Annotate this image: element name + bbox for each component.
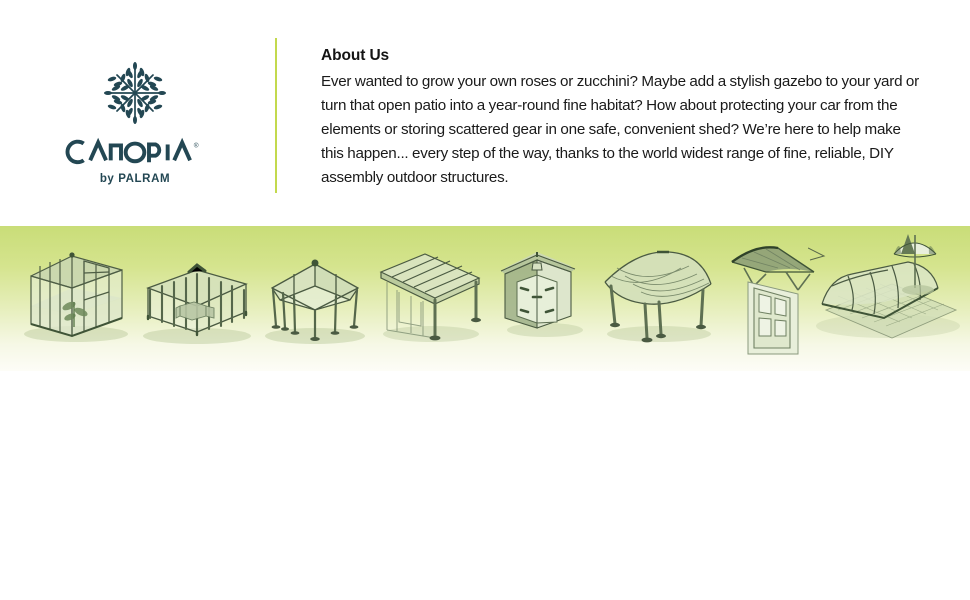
brand-wordmark-row: ® [55, 136, 215, 166]
about-us-section: About Us Ever wanted to grow your own ro… [321, 47, 926, 190]
pool-enclosure-icon [808, 226, 970, 371]
brand-logo[interactable]: ® by PALRAM [55, 58, 215, 185]
about-us-title: About Us [321, 47, 926, 65]
brand-tagline: by PALRAM [55, 173, 215, 185]
square-gazebo-icon [136, 226, 258, 371]
about-us-body: Ever wanted to grow your own roses or zu… [321, 70, 926, 190]
banner-header: ® by PALRAM About Us Ever wanted to grow… [0, 0, 970, 226]
patio-cover-icon [373, 226, 488, 371]
canopia-tree-pattern-logo [97, 58, 173, 128]
product-storage-shed[interactable] [497, 226, 589, 371]
footer-whitespace [0, 371, 970, 600]
registered-trademark-symbol: ® [194, 141, 199, 149]
product-row [0, 226, 970, 371]
hexagonal-gazebo-icon [258, 226, 373, 371]
door-awning-icon [726, 226, 820, 371]
product-greenhouse[interactable] [14, 226, 136, 371]
product-illustration-strip [0, 226, 970, 371]
product-hexagonal-gazebo[interactable] [258, 226, 373, 371]
product-carport[interactable] [597, 226, 719, 371]
about-us-banner-page: ® by PALRAM About Us Ever wanted to grow… [0, 0, 970, 600]
product-square-gazebo[interactable] [136, 226, 258, 371]
greenhouse-icon [14, 226, 136, 371]
product-door-awning[interactable] [726, 226, 820, 371]
storage-shed-icon [497, 226, 589, 371]
canopia-wordmark: ® [65, 136, 205, 166]
carport-icon [597, 226, 719, 371]
product-patio-cover[interactable] [373, 226, 488, 371]
vertical-divider [275, 38, 277, 193]
product-pool-enclosure[interactable] [808, 226, 970, 371]
